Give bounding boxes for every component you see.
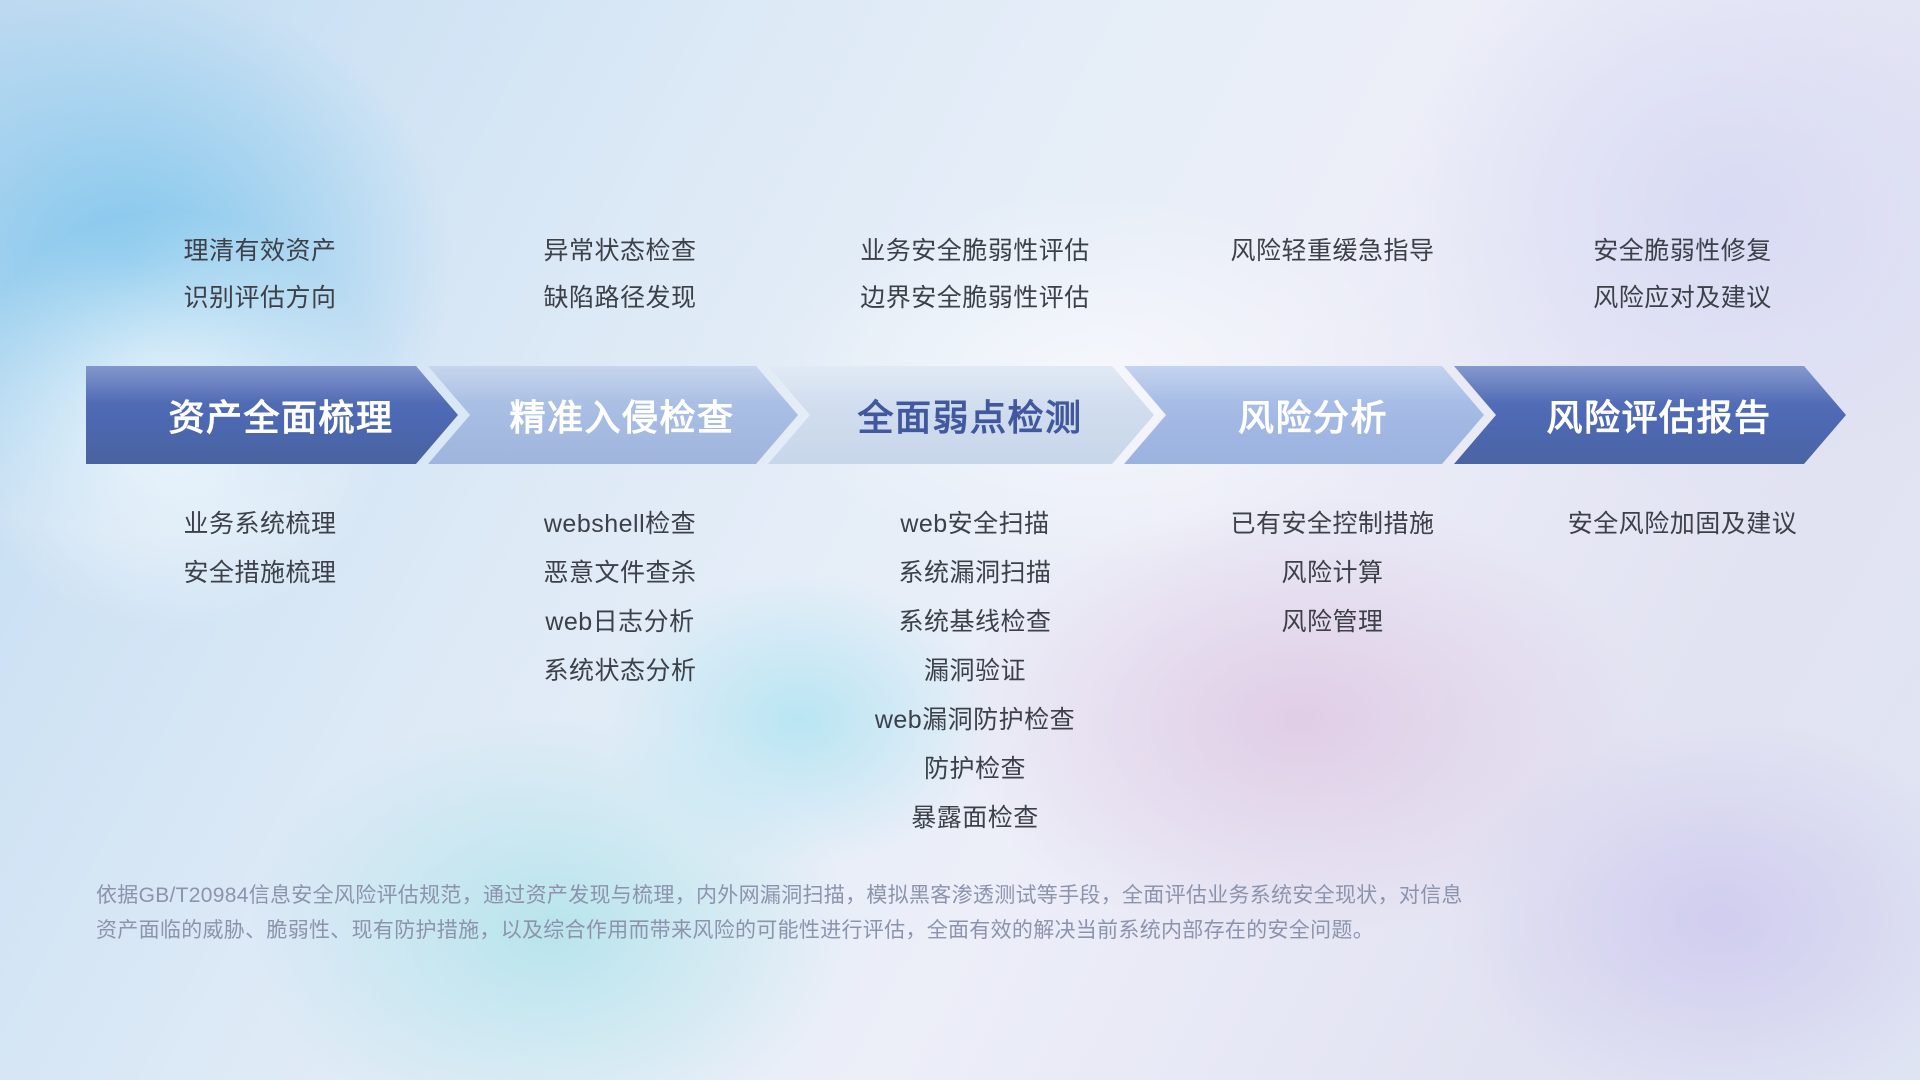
top-item: 理清有效资产 (183, 228, 336, 275)
slide-canvas: 理清有效资产 识别评估方向 异常状态检查 缺陷路径发现 业务安全脆弱性评估 边界… (0, 0, 1920, 1080)
chevron-label: 风险分析 (1124, 389, 1484, 441)
bottom-item: 安全风险加固及建议 (1568, 500, 1798, 549)
chevron-step-risk-report[interactable]: 风险评估报告 (1454, 366, 1846, 464)
bottom-item: web安全扫描 (900, 500, 1049, 549)
bottom-item: 安全措施梳理 (183, 549, 336, 598)
top-items-risk-analysis: 风险轻重缓急指导 (1160, 228, 1505, 338)
footer-line-2: 资产面临的威胁、脆弱性、现有防护措施，以及综合作用而带来风险的可能性进行评估，全… (96, 913, 1646, 948)
chevron-label: 全面弱点检测 (768, 389, 1154, 441)
top-item: 缺陷路径发现 (543, 275, 696, 322)
bottom-item: webshell检查 (544, 500, 696, 549)
bottom-item: 风险计算 (1281, 549, 1383, 598)
footer-description: 依据GB/T20984信息安全风险评估规范，通过资产发现与梳理，内外网漏洞扫描，… (96, 878, 1646, 948)
top-items-intrusion-check: 异常状态检查 缺陷路径发现 (450, 228, 790, 338)
bottom-item: 暴露面检查 (911, 794, 1039, 843)
process-chevron-band: 资产全面梳理 精准入侵检查 全面弱点检测 风险分析 风险评估报告 (86, 366, 1846, 464)
bottom-items-asset-inventory: 业务系统梳理 安全措施梳理 (70, 500, 450, 598)
top-items-risk-report: 安全脆弱性修复 风险应对及建议 (1505, 228, 1860, 338)
bottom-items-risk-report: 安全风险加固及建议 (1505, 500, 1860, 549)
top-outcome-row: 理清有效资产 识别评估方向 异常状态检查 缺陷路径发现 业务安全脆弱性评估 边界… (70, 228, 1860, 338)
chevron-label: 资产全面梳理 (86, 389, 458, 441)
bottom-item: web日志分析 (545, 598, 694, 647)
chevron-label: 风险评估报告 (1454, 389, 1846, 441)
bottom-item: 系统漏洞扫描 (898, 549, 1051, 598)
bottom-item: 防护检查 (924, 745, 1026, 794)
bottom-items-risk-analysis: 已有安全控制措施 风险计算 风险管理 (1160, 500, 1505, 647)
top-item: 风险应对及建议 (1593, 275, 1772, 322)
bottom-items-weakness-detection: web安全扫描 系统漏洞扫描 系统基线检查 漏洞验证 web漏洞防护检查 防护检… (790, 500, 1160, 843)
bottom-item: 恶意文件查杀 (543, 549, 696, 598)
bottom-item: 业务系统梳理 (183, 500, 336, 549)
chevron-step-intrusion-check[interactable]: 精准入侵检查 (428, 366, 798, 464)
bottom-item: 已有安全控制措施 (1230, 500, 1434, 549)
footer-line-1: 依据GB/T20984信息安全风险评估规范，通过资产发现与梳理，内外网漏洞扫描，… (96, 878, 1646, 913)
top-item: 识别评估方向 (183, 275, 336, 322)
top-items-weakness-detection: 业务安全脆弱性评估 边界安全脆弱性评估 (790, 228, 1160, 338)
bottom-item: 系统状态分析 (543, 647, 696, 696)
chevron-label: 精准入侵检查 (428, 389, 798, 441)
chevron-step-asset-inventory[interactable]: 资产全面梳理 (86, 366, 458, 464)
bottom-items-intrusion-check: webshell检查 恶意文件查杀 web日志分析 系统状态分析 (450, 500, 790, 696)
top-item: 边界安全脆弱性评估 (860, 275, 1090, 322)
top-item: 异常状态检查 (543, 228, 696, 275)
bottom-activity-row: 业务系统梳理 安全措施梳理 webshell检查 恶意文件查杀 web日志分析 … (70, 500, 1860, 843)
bottom-item: 风险管理 (1281, 598, 1383, 647)
chevron-step-weakness-detection[interactable]: 全面弱点检测 (768, 366, 1154, 464)
bottom-item: 系统基线检查 (898, 598, 1051, 647)
top-item: 业务安全脆弱性评估 (860, 228, 1090, 275)
top-items-asset-inventory: 理清有效资产 识别评估方向 (70, 228, 450, 338)
bottom-item: web漏洞防护检查 (875, 696, 1075, 745)
bottom-item: 漏洞验证 (924, 647, 1026, 696)
process-diagram: 理清有效资产 识别评估方向 异常状态检查 缺陷路径发现 业务安全脆弱性评估 边界… (0, 0, 1920, 1080)
top-item: 安全脆弱性修复 (1593, 228, 1772, 275)
top-item: 风险轻重缓急指导 (1230, 228, 1434, 275)
chevron-step-risk-analysis[interactable]: 风险分析 (1124, 366, 1484, 464)
